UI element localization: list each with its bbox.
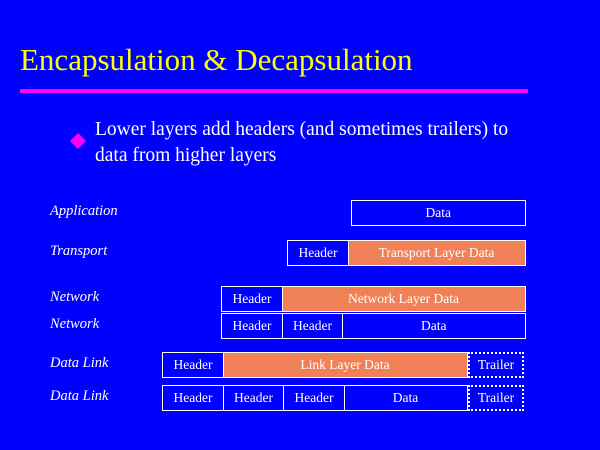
slide-canvas: Encapsulation & Decapsulation Lower laye…	[0, 0, 600, 450]
pdu-cell-header: Header	[162, 352, 224, 378]
encapsulation-diagram: Application Data Transport Header Transp…	[0, 196, 600, 426]
pdu-cell-link-layer-data: Link Layer Data	[223, 352, 468, 378]
pdu-row-network-expanded: Header Header Data	[221, 313, 524, 339]
bullet-item-label: Lower layers add headers (and sometimes …	[95, 117, 540, 169]
pdu-cell-header: Header	[287, 240, 349, 266]
pdu-cell-header: Header	[221, 286, 283, 312]
page-title: Encapsulation & Decapsulation	[20, 40, 530, 80]
pdu-cell-header: Header	[282, 313, 344, 339]
pdu-row-transport: Header Transport Layer Data	[287, 240, 524, 266]
pdu-cell-header: Header	[283, 385, 345, 411]
pdu-cell-header: Header	[223, 385, 285, 411]
pdu-cell-transport-layer-data: Transport Layer Data	[348, 240, 526, 266]
pdu-row-data-link-expanded: Header Header Header Data Trailer	[162, 385, 524, 411]
layer-label-data-link-encapsulated: Data Link	[50, 355, 108, 372]
bullet-item: Lower layers add headers (and sometimes …	[70, 117, 540, 169]
pdu-cell-header: Header	[162, 385, 224, 411]
layer-label-transport: Transport	[50, 243, 107, 260]
title-underline-rule	[20, 89, 528, 93]
pdu-cell-data: Data	[351, 200, 526, 226]
pdu-cell-trailer: Trailer	[468, 352, 524, 378]
pdu-row-network-encapsulated: Header Network Layer Data	[221, 286, 524, 312]
pdu-cell-data: Data	[344, 385, 468, 411]
pdu-cell-header: Header	[221, 313, 283, 339]
pdu-cell-network-layer-data: Network Layer Data	[282, 286, 526, 312]
diamond-bullet-icon	[70, 125, 86, 141]
pdu-cell-data: Data	[342, 313, 526, 339]
layer-label-data-link-expanded: Data Link	[50, 388, 108, 405]
title-block: Encapsulation & Decapsulation	[20, 40, 530, 80]
pdu-row-application: Data	[351, 200, 524, 226]
pdu-row-data-link-encapsulated: Header Link Layer Data Trailer	[162, 352, 524, 378]
layer-label-network-expanded: Network	[50, 316, 99, 333]
layer-label-network-encapsulated: Network	[50, 289, 99, 306]
layer-label-application: Application	[50, 203, 118, 220]
pdu-cell-trailer: Trailer	[468, 385, 524, 411]
